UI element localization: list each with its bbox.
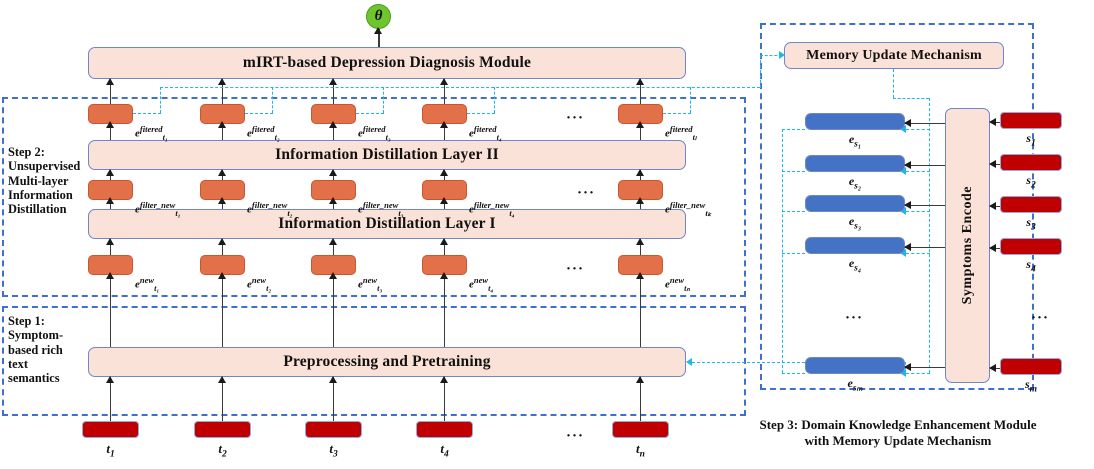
encode-to-embedding-line-2 [905, 165, 945, 167]
embedding-label-5: esₘ [805, 376, 905, 393]
step1-caption-line-4: semantics [8, 371, 86, 385]
cyan-stub-5 [663, 113, 691, 114]
token-label-5: tn [621, 441, 661, 460]
symptoms-ellipsis: ··· [1031, 310, 1049, 327]
encode-to-embedding-line-4 [905, 247, 945, 249]
arrow-preprocess-to-new-head-col4 [440, 272, 448, 279]
arrow-token-to-preprocess-col4 [444, 377, 446, 421]
arrow-filtered-to-module-head-col5 [636, 78, 644, 85]
cyan-left-tap-4 [782, 253, 805, 254]
step3-caption-line-1: Step 3: Domain Knowledge Enhancement Mod… [748, 417, 1048, 433]
label-new-4: enewt₄ [469, 276, 493, 292]
cyan-drop-1 [160, 87, 161, 113]
step1-caption-line-1: Symptom- [8, 328, 86, 342]
step2-caption-line-2: Multi-layer [8, 174, 88, 188]
cyan-left-bus [782, 129, 783, 373]
cyan-left-tap-5 [782, 373, 805, 374]
label-new-2: enewt₂ [247, 276, 271, 292]
label-new-3: enewt₃ [358, 276, 382, 292]
step2-caption-line-0: Step 2: [8, 145, 88, 159]
step1-caption-line-0: Step 1: [8, 314, 86, 328]
step1-caption-line-3: text [8, 357, 86, 371]
step2-caption-line-3: Information [8, 188, 88, 202]
symptom-block-5 [1000, 358, 1062, 375]
arrow-layer1-to-filternew-head-col2 [218, 197, 226, 204]
encode-to-embedding-head-4 [904, 243, 911, 251]
label-new-1: enewt₁ [135, 276, 159, 292]
embedding-block-2 [805, 155, 905, 172]
embedding-label-3: es₃ [805, 214, 905, 231]
label-filter_new-5: efilter_newtₖ [665, 201, 711, 217]
memory-update-module: Memory Update Mechanism [784, 42, 1004, 69]
arrow-preprocess-to-new-col2 [222, 273, 224, 347]
cyan-mem-in-3 [906, 211, 930, 212]
theta-arrow-head [374, 27, 382, 34]
cyan-drop-5 [690, 87, 691, 113]
encode-to-embedding-head-2 [904, 161, 911, 169]
cyan-stub-3 [356, 113, 384, 114]
embeddings-ellipsis: ··· [845, 310, 863, 327]
distillation-layer-2-label: Information Distillation Layer II [275, 146, 499, 164]
cyan-stub-1 [133, 113, 161, 114]
arrow-token-to-preprocess-head-col4 [440, 376, 448, 383]
token-block-5 [612, 421, 669, 438]
cyan-left-tap-3 [782, 211, 805, 212]
embedding-label-2: es₂ [805, 174, 905, 191]
cyan-to-preprocess-arrow [686, 358, 692, 366]
arrow-layer2-to-filtered-head-col1 [106, 121, 114, 128]
token-block-3 [305, 421, 362, 438]
arrow-layer1-to-filternew-head-col4 [440, 197, 448, 204]
symptom-label-1: s1 [1000, 131, 1062, 148]
arrow-preprocess-to-new-head-col3 [329, 272, 337, 279]
arrow-token-to-preprocess-col5 [640, 377, 642, 421]
step1-caption: Step 1: Symptom- based rich text semanti… [8, 314, 86, 385]
arrow-filtered-to-module-head-col3 [329, 78, 337, 85]
step2-caption-line-1: Unsupervised [8, 159, 88, 173]
cyan-memory-feed-arrow [779, 51, 785, 59]
arrow-new-to-layer1-head-col2 [218, 238, 226, 245]
arrow-preprocess-to-new-head-col2 [218, 272, 226, 279]
arrow-preprocess-to-new-col1 [110, 273, 112, 347]
embedding-label-4: es₄ [805, 256, 905, 273]
embedding-block-5 [805, 357, 905, 374]
filternew-row-ellipsis: ··· [577, 185, 595, 202]
label-filtered-1: efiteredt₁ [135, 125, 168, 141]
cyan-mem-in-4 [906, 253, 930, 254]
token-block-2 [194, 421, 251, 438]
cyan-left-tap-2 [782, 171, 805, 172]
mirt-module-label: mIRT-based Depression Diagnosis Module [243, 54, 531, 72]
symptom-block-1 [1000, 112, 1062, 129]
arrow-preprocess-to-new-col3 [333, 273, 335, 347]
embedding-block-3 [805, 195, 905, 212]
arrow-layer2-to-filtered-head-col5 [636, 121, 644, 128]
cyan-drop-4 [494, 87, 495, 113]
arrow-layer2-to-filtered-head-col3 [329, 121, 337, 128]
arrow-preprocess-to-new-col5 [640, 273, 642, 347]
arrow-new-to-layer1-head-col3 [329, 238, 337, 245]
cyan-bus-riser [760, 55, 761, 88]
arrow-filternew-to-layer2-head-col2 [218, 169, 226, 176]
symptom-label-4: s4 [1000, 257, 1062, 274]
symptoms-encode-label: Symptoms Encode [960, 186, 976, 304]
arrow-filternew-to-layer2-head-col3 [329, 169, 337, 176]
encode-to-embedding-head-1 [904, 119, 911, 127]
arrow-layer1-to-filternew-head-col3 [329, 197, 337, 204]
label-filter_new-4: efilter_newt₄ [469, 201, 515, 217]
symptom-label-2: s2 [1000, 173, 1062, 190]
encode-to-embedding-line-5 [905, 367, 945, 369]
symptom-block-3 [1000, 196, 1062, 213]
symptom-to-encode-head-3 [989, 202, 996, 210]
label-filter_new-2: efilter_newt₂ [247, 201, 293, 217]
cyan-memory-across [893, 98, 929, 99]
arrow-filtered-to-module-head-col4 [440, 78, 448, 85]
encode-to-embedding-head-5 [904, 363, 911, 371]
arrow-filternew-to-layer2-head-col5 [636, 169, 644, 176]
token-row-ellipsis: ··· [566, 428, 584, 445]
preprocessing-label: Preprocessing and Pretraining [283, 353, 490, 371]
cyan-memory-down [893, 69, 894, 98]
arrow-new-to-layer1-head-col4 [440, 238, 448, 245]
token-label-3: t3 [314, 441, 354, 460]
symptom-to-encode-head-2 [989, 160, 996, 168]
arrow-layer2-to-filtered-head-col2 [218, 121, 226, 128]
symptom-block-4 [1000, 238, 1062, 255]
step3-caption-line-2: with Memory Update Mechanism [748, 433, 1048, 449]
symptom-label-3: s3 [1000, 215, 1062, 232]
label-filtered-5: efiteredtₗ [665, 125, 696, 141]
token-block-4 [416, 421, 473, 438]
encode-to-embedding-head-3 [904, 201, 911, 209]
arrow-filternew-to-layer2-head-col4 [440, 169, 448, 176]
arrow-token-to-preprocess-head-col1 [106, 376, 114, 383]
new-row-ellipsis: ··· [566, 261, 584, 278]
filtered-row-ellipsis: ··· [566, 110, 584, 127]
symptom-block-2 [1000, 154, 1062, 171]
step2-caption-line-4: Distillation [8, 202, 88, 216]
arrow-layer2-to-filtered-head-col4 [440, 121, 448, 128]
preprocessing-module: Preprocessing and Pretraining [88, 347, 686, 377]
arrow-token-to-preprocess-head-col2 [218, 376, 226, 383]
cyan-drop-3 [383, 87, 384, 113]
cyan-stub-4 [467, 113, 495, 114]
label-filtered-4: efiteredt₄ [469, 125, 502, 141]
step2-caption: Step 2: Unsupervised Multi-layer Informa… [8, 145, 88, 216]
symptom-to-encode-head-5 [989, 364, 996, 372]
distillation-layer-2: Information Distillation Layer II [88, 140, 686, 170]
cyan-memory-right-bus [929, 98, 930, 373]
step3-caption: Step 3: Domain Knowledge Enhancement Mod… [748, 417, 1048, 450]
cyan-left-tap-1 [782, 129, 805, 130]
label-new-5: enewtₙ [665, 276, 690, 292]
embedding-label-1: es₁ [805, 132, 905, 149]
token-label-2: t2 [203, 441, 243, 460]
arrow-filtered-to-module-head-col2 [218, 78, 226, 85]
distillation-layer-1-label: Information Distillation Layer I [278, 215, 496, 233]
arrow-layer1-to-filternew-head-col1 [106, 197, 114, 204]
embedding-block-4 [805, 237, 905, 254]
arrow-token-to-preprocess-head-col3 [329, 376, 337, 383]
arrow-preprocess-to-new-head-col5 [636, 272, 644, 279]
encode-to-embedding-line-1 [905, 123, 945, 125]
arrow-layer1-to-filternew-head-col5 [636, 197, 644, 204]
arrow-preprocess-to-new-col4 [444, 273, 446, 347]
step1-caption-line-2: based rich [8, 343, 86, 357]
token-label-1: t1 [91, 441, 131, 460]
theta-node: θ [366, 4, 391, 29]
arrow-token-to-preprocess-col1 [110, 377, 112, 421]
label-filter_new-3: efilter_newt₃ [358, 201, 404, 217]
embedding-block-1 [805, 113, 905, 130]
cyan-mem-in-2 [906, 171, 930, 172]
arrow-filternew-to-layer2-head-col1 [106, 169, 114, 176]
symptom-to-encode-head-4 [989, 244, 996, 252]
arrow-filtered-to-module-head-col1 [106, 78, 114, 85]
arrow-new-to-layer1-head-col1 [106, 238, 114, 245]
theta-label: θ [375, 8, 383, 25]
memory-update-label: Memory Update Mechanism [806, 48, 982, 64]
token-block-1 [82, 421, 139, 438]
label-filter_new-1: efilter_newt₁ [135, 201, 181, 217]
symptoms-encode-module: Symptoms Encode [945, 108, 990, 383]
arrow-new-to-layer1-head-col5 [636, 238, 644, 245]
arrow-preprocess-to-new-head-col1 [106, 272, 114, 279]
label-filtered-3: efiteredt₃ [358, 125, 391, 141]
label-filtered-2: efiteredt₂ [247, 125, 280, 141]
arrow-token-to-preprocess-head-col5 [636, 376, 644, 383]
token-label-4: t4 [425, 441, 465, 460]
cyan-stub-2 [245, 113, 273, 114]
symptom-to-encode-head-1 [989, 118, 996, 126]
encode-to-embedding-line-3 [905, 205, 945, 207]
arrow-token-to-preprocess-col2 [222, 377, 224, 421]
cyan-top-bus [160, 87, 760, 88]
arrow-token-to-preprocess-col3 [333, 377, 335, 421]
symptom-label-5: sm [1000, 377, 1062, 394]
cyan-mem-in-5 [906, 373, 930, 374]
mirt-diagnosis-module: mIRT-based Depression Diagnosis Module [88, 47, 686, 79]
cyan-mem-in-1 [906, 129, 930, 130]
architecture-diagram: θ mIRT-based Depression Diagnosis Module… [0, 0, 1094, 469]
cyan-drop-2 [272, 87, 273, 113]
